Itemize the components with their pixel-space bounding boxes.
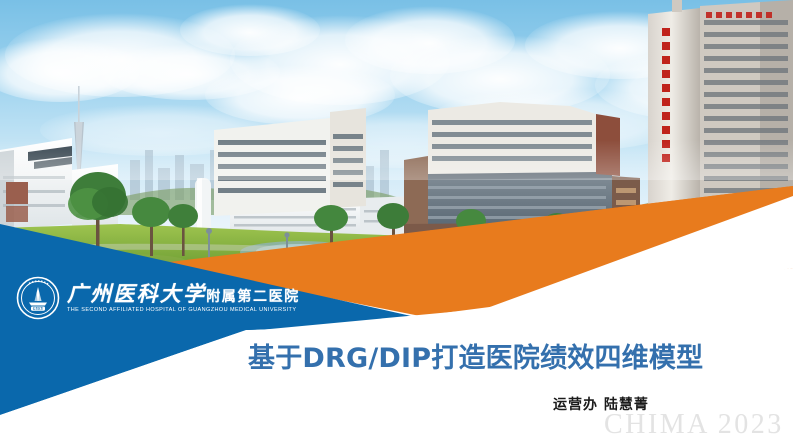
logo-cn-secondary: 附属第二医院 [206, 290, 300, 305]
presenter-line: 运营办 陆慧菁 [553, 394, 649, 414]
slide-main-title: 基于DRG/DIP打造医院绩效四维模型 [248, 336, 703, 375]
guangzhou-medical-university-emblem-icon: GYEY [16, 276, 60, 320]
logo-cn-primary: 广州医科大学 [67, 282, 206, 306]
logo-english-name: THE SECOND AFFILIATED HOSPITAL OF GUANGZ… [67, 307, 304, 313]
logo-chinese-name: 广州医科大学附属第二医院 [67, 283, 300, 306]
decorative-color-shapes [0, 0, 793, 446]
svg-text:GYEY: GYEY [33, 307, 44, 311]
title-slide: GYEY 广州医科大学附属第二医院 THE SECOND AFFILIATED … [0, 0, 793, 446]
hospital-logo: GYEY 广州医科大学附属第二医院 THE SECOND AFFILIATED … [16, 276, 300, 320]
